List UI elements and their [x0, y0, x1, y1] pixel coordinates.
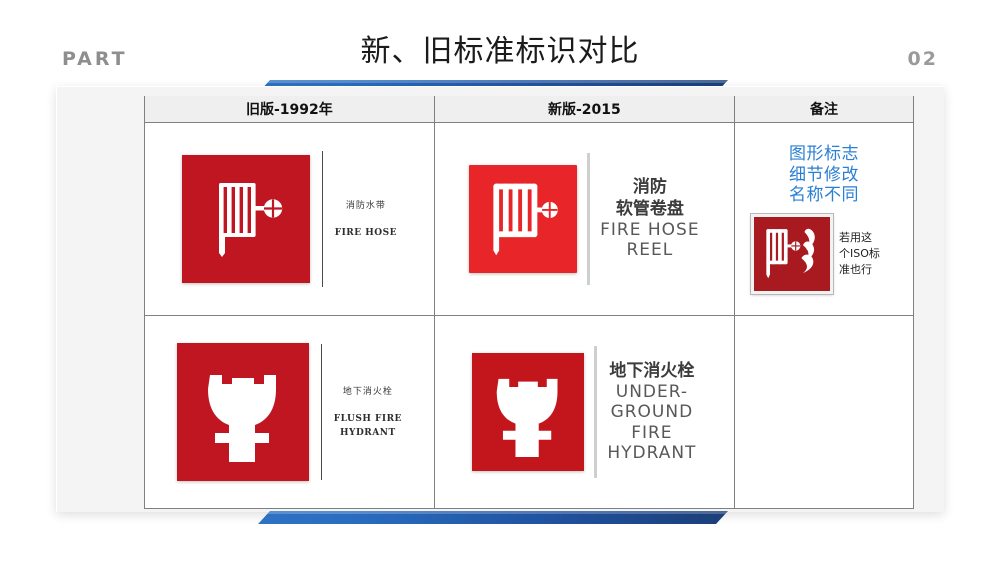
caption-cn: 地下消火栓 — [607, 361, 696, 382]
accent-bar-top-highlight — [258, 80, 728, 83]
flush-fire-hydrant-icon — [177, 343, 309, 481]
comparison-table: 旧版-1992年 新版-2015 备注 — [144, 96, 914, 509]
caption-en-line1: FIRE HOSE — [600, 220, 699, 240]
caption-en-line1: FLUSH FIRE — [334, 413, 402, 426]
table-row: 地下消火栓 FLUSH FIRE HYDRANT — [145, 316, 914, 509]
caption-new-underground-hydrant: 地下消火栓 UNDER- GROUND FIRE HYDRANT — [607, 361, 696, 464]
caption-en-line1: UNDER- — [607, 382, 696, 402]
column-header-old: 旧版-1992年 — [145, 96, 435, 123]
column-header-note: 备注 — [735, 96, 914, 123]
content-card: 旧版-1992年 新版-2015 备注 — [56, 86, 944, 512]
cell-new-underground-hydrant: 地下消火栓 UNDER- GROUND FIRE HYDRANT — [434, 316, 734, 509]
cell-divider — [322, 151, 323, 287]
cell-note-empty — [735, 316, 914, 509]
fire-hose-reel-icon — [182, 155, 310, 283]
caption-cn: 地下消火栓 — [334, 384, 402, 397]
column-header-new: 新版-2015 — [434, 96, 734, 123]
caption-en-line2: REEL — [600, 240, 699, 260]
caption-en-line3: FIRE — [607, 423, 696, 443]
caption-new-fire-hose-reel: 消防 软管卷盘 FIRE HOSE REEL — [600, 177, 699, 260]
note-blue-line3: 名称不同 — [735, 185, 913, 206]
note-blue-line2: 细节修改 — [735, 165, 913, 186]
accent-bar-bottom — [258, 511, 728, 524]
table-row: 消防水带 FIRE HOSE — [145, 123, 914, 316]
page-title: 新、旧标准标识对比 — [0, 26, 1000, 70]
fire-hose-reel-icon — [469, 165, 577, 273]
note-text-small: 若用这 个ISO标 准也行 — [839, 230, 897, 278]
note-small-line1: 若用这 — [839, 230, 897, 246]
cell-old-flush-hydrant: 地下消火栓 FLUSH FIRE HYDRANT — [145, 316, 435, 509]
caption-cn: 消防水带 — [335, 198, 397, 211]
iso-fire-hose-reel-flame-icon — [751, 214, 833, 294]
cell-old-fire-hose: 消防水带 FIRE HOSE — [145, 123, 435, 316]
note-blue-line1: 图形标志 — [735, 144, 913, 165]
note-small-line2: 个ISO标 — [839, 246, 897, 262]
caption-old-flush-hydrant: 地下消火栓 FLUSH FIRE HYDRANT — [334, 384, 402, 439]
cell-new-fire-hose-reel: 消防 软管卷盘 FIRE HOSE REEL — [434, 123, 734, 316]
caption-en-line2: HYDRANT — [334, 427, 402, 440]
caption-old-fire-hose: 消防水带 FIRE HOSE — [335, 198, 397, 240]
note-text-blue: 图形标志 细节修改 名称不同 — [735, 144, 913, 206]
cell-divider — [594, 346, 597, 478]
cell-divider — [587, 153, 590, 285]
accent-bar-bottom-highlight — [258, 511, 728, 514]
table-header-row: 旧版-1992年 新版-2015 备注 — [145, 96, 914, 123]
cell-note-fire-hose: 图形标志 细节修改 名称不同 — [735, 123, 914, 316]
caption-en-line4: HYDRANT — [607, 443, 696, 463]
caption-en: FIRE HOSE — [335, 227, 397, 240]
slide: PART 02 新、旧标准标识对比 旧版-1992年 新版-2015 备注 — [0, 0, 1000, 562]
note-small-line3: 准也行 — [839, 262, 897, 278]
caption-cn-line2: 软管卷盘 — [600, 199, 699, 220]
underground-fire-hydrant-icon — [472, 353, 584, 471]
cell-divider — [321, 344, 322, 480]
caption-en-line2: GROUND — [607, 402, 696, 422]
caption-cn-line1: 消防 — [600, 177, 699, 198]
